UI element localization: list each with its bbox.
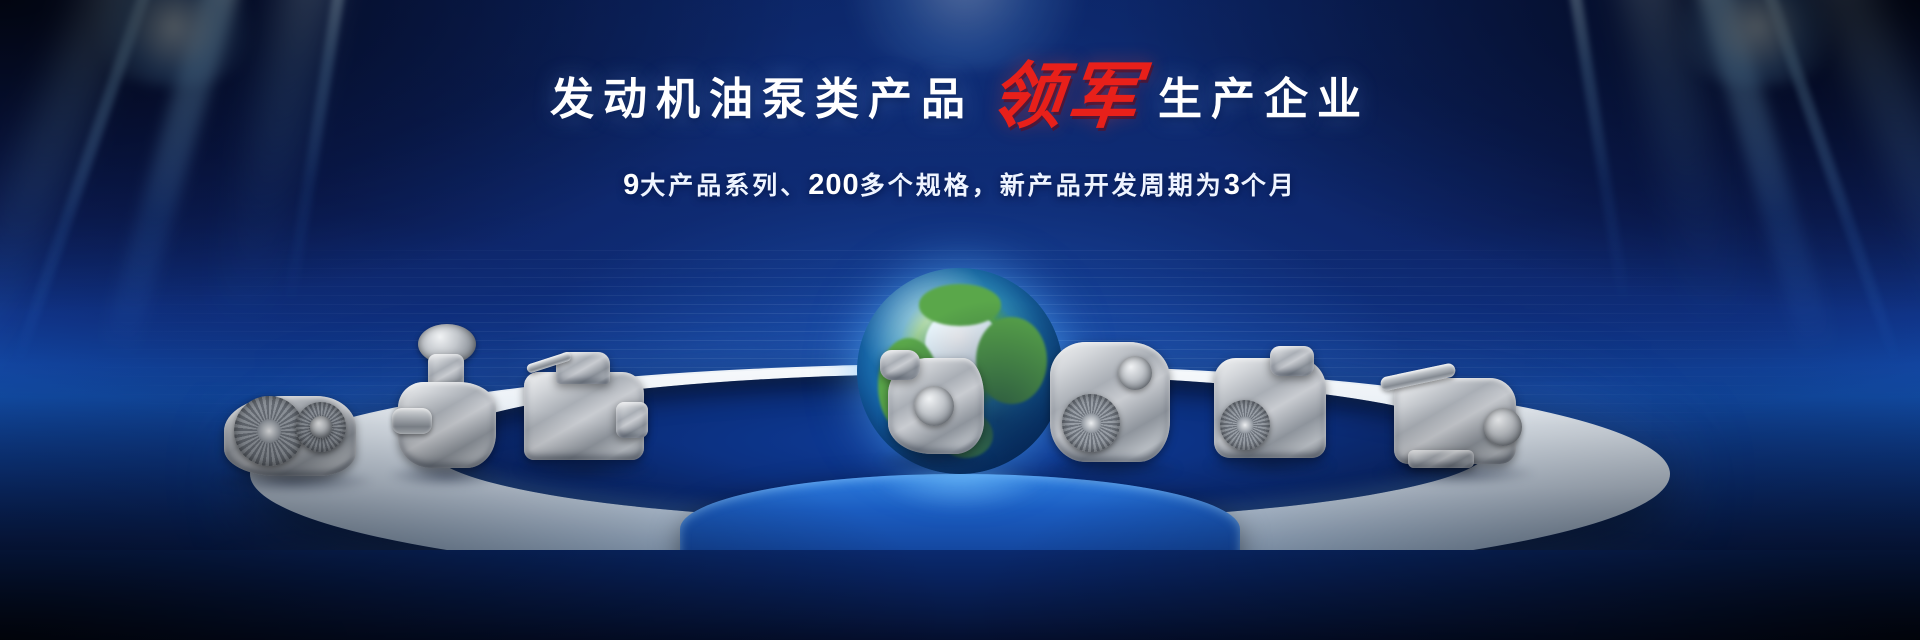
banner-copy-block: 发动机油泵类产品 领军 生产企业 9大产品系列、200多个规格，新产品开发周期为… — [0, 64, 1920, 202]
cover-boss — [1118, 356, 1152, 390]
unit-flange — [1484, 408, 1522, 446]
headline-emphasis-text: 领军 — [987, 60, 1147, 132]
headline-lead-text: 发动机油泵类产品 — [550, 78, 974, 122]
bracket-arm — [880, 350, 920, 380]
subheadline-seg3-text: 个月 — [1241, 172, 1297, 200]
pump-outlet-pipe — [392, 408, 432, 434]
product-oil-pump-cover-gear — [1046, 338, 1176, 468]
product-oil-pump-bracket — [880, 350, 990, 460]
assembly-cap — [1270, 346, 1314, 376]
pump-gear-large — [234, 396, 304, 466]
product-showcase-row — [0, 300, 1920, 640]
product-water-pump-housing — [392, 324, 502, 474]
subheadline-seg2-text: 多个规格，新产品开发周期为 — [860, 172, 1224, 200]
subheadline: 9大产品系列、200多个规格，新产品开发周期为3个月 — [0, 166, 1920, 202]
promo-banner: 发动机油泵类产品 领军 生产企业 9大产品系列、200多个规格，新产品开发周期为… — [0, 0, 1920, 640]
subheadline-dev-months: 3 — [1224, 169, 1241, 201]
product-oil-pump-unit-far-right — [1380, 362, 1530, 472]
headline: 发动机油泵类产品 领军 生产企业 — [0, 64, 1920, 136]
subheadline-series-count: 9 — [623, 169, 640, 201]
module-side-boss — [616, 402, 648, 438]
subheadline-seg1-text: 大产品系列、 — [640, 172, 808, 200]
product-oil-pump-gear-assembly — [218, 370, 368, 480]
subheadline-spec-count: 200 — [808, 169, 859, 201]
product-oil-pump-module-left — [520, 348, 650, 468]
unit-foot — [1408, 450, 1474, 468]
bracket-bore — [914, 386, 954, 426]
assembly-gear — [1220, 400, 1270, 450]
cover-drive-gear — [1062, 394, 1120, 452]
product-oil-pump-assembly-right — [1210, 346, 1330, 464]
pump-hub — [310, 416, 332, 438]
headline-trail-text: 生产企业 — [1158, 78, 1370, 122]
